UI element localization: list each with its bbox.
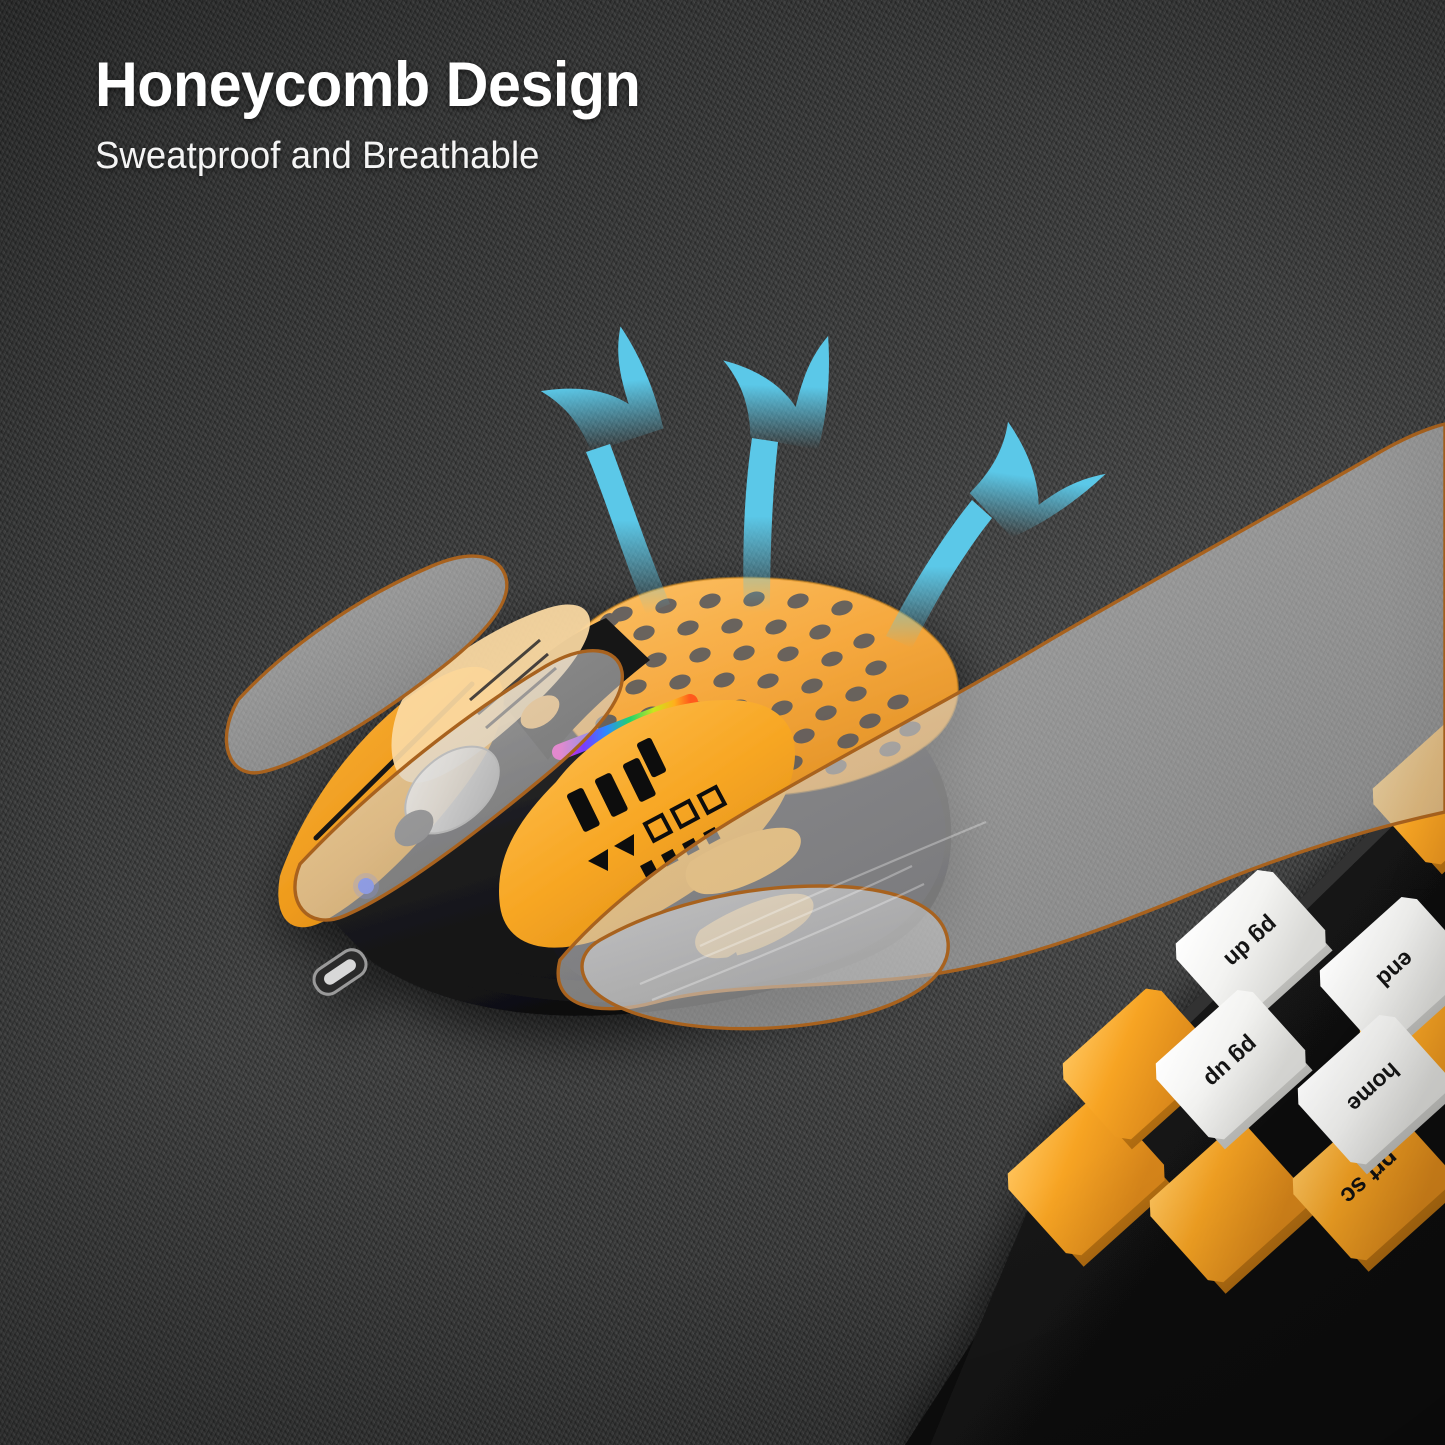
- header-block: Honeycomb Design Sweatproof and Breathab…: [95, 52, 675, 178]
- page-subtitle: Sweatproof and Breathable: [95, 135, 652, 178]
- product-marketing-image: prt sc pg: [0, 0, 1445, 1445]
- vignette-overlay: [0, 0, 1445, 1445]
- page-title: Honeycomb Design: [95, 52, 640, 119]
